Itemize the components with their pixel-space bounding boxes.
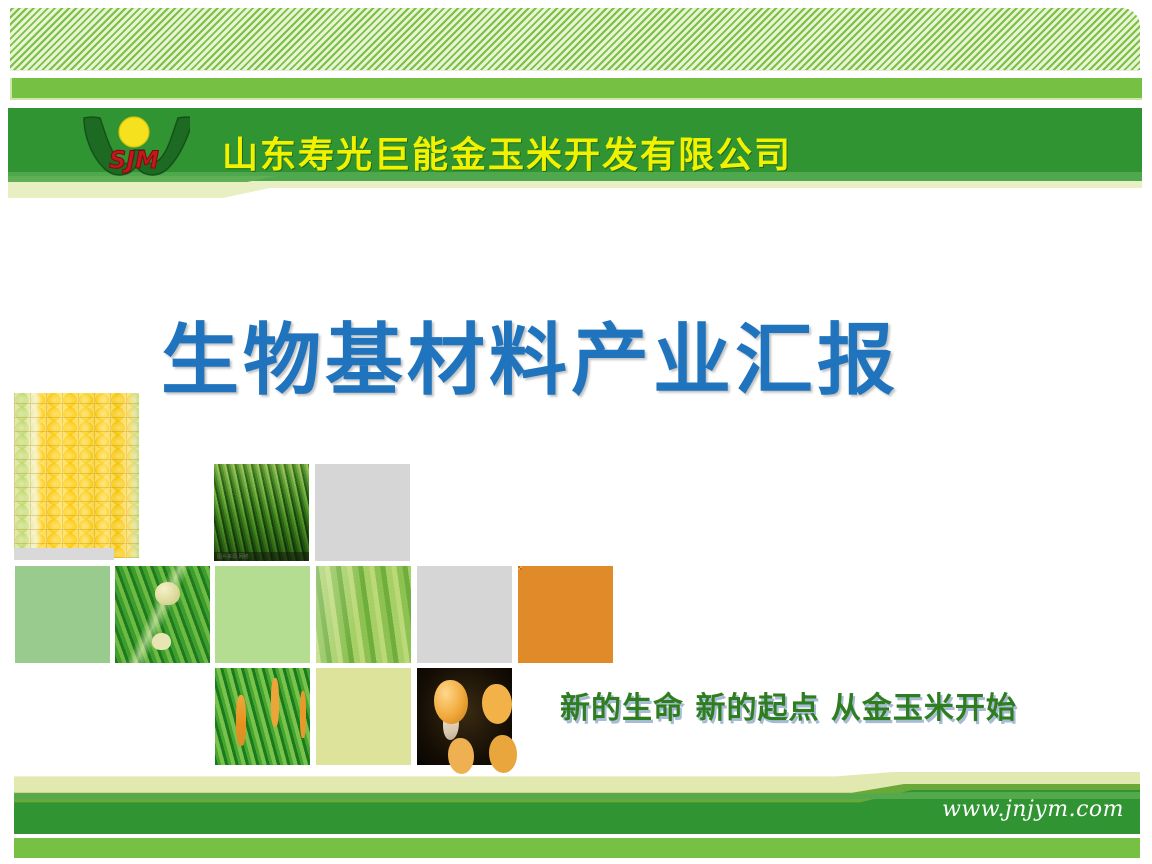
logo-sjm-text: SJM <box>109 146 159 174</box>
presentation-slide: SJM 山东寿光巨能金玉米开发有限公司 生物基材料产业汇报 图片来源 网络 新的… <box>0 0 1152 864</box>
corn-cob-shadow <box>14 548 114 560</box>
corn-plant-photo <box>115 566 210 663</box>
corn-field-watermark: 图片来源 网络 <box>217 553 249 560</box>
footer-bright-green-bar <box>14 838 1140 858</box>
top-bright-green-bar <box>10 78 1142 100</box>
page-title: 生物基材料产业汇报 <box>0 298 1060 410</box>
green-tile-left <box>15 566 110 663</box>
corn-kernel-photo <box>417 668 512 765</box>
green-tile-mid <box>215 566 310 663</box>
slide-slogan: 新的生命 新的起点 从金玉米开始 <box>560 683 1017 727</box>
website-url[interactable]: www.jnjym.com <box>942 797 1124 822</box>
kernel-highlight <box>443 707 459 740</box>
logo-sun-circle <box>119 117 149 147</box>
company-logo: SJM <box>72 110 190 180</box>
corn-field-photo: 图片来源 网络 <box>214 464 309 561</box>
corn-leaves-photo <box>316 566 411 663</box>
corn-ears-photo <box>215 668 310 765</box>
top-hatched-band <box>10 8 1140 70</box>
yellow-green-tile <box>316 668 411 765</box>
grey-tile-top <box>315 464 410 561</box>
corn-grain-photo <box>518 566 613 663</box>
corn-cob-photo <box>14 393 139 558</box>
grey-tile-mid <box>417 566 512 663</box>
company-name: 山东寿光巨能金玉米开发有限公司 <box>222 126 792 178</box>
